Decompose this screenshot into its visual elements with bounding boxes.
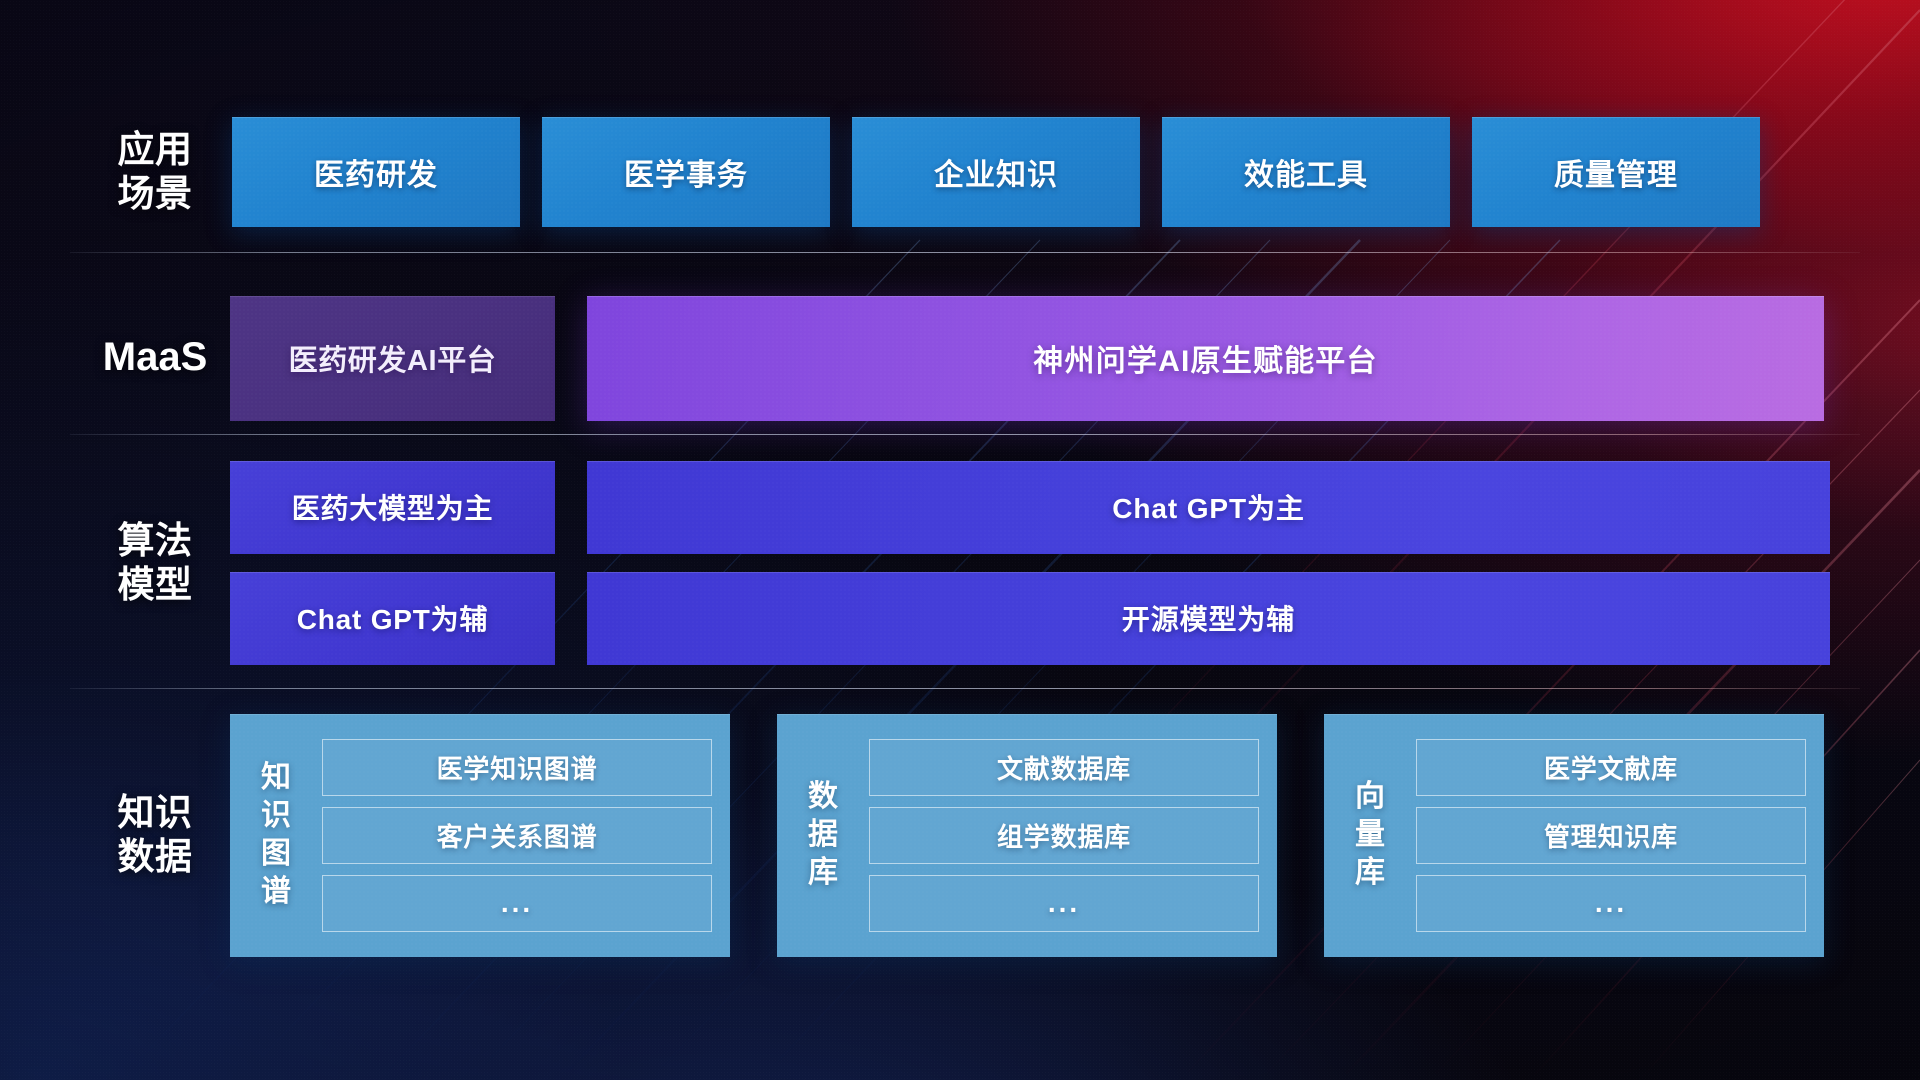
knowledge-panel-vector-store: 向 量 库 医学文献库 管理知识库 ... <box>1324 714 1824 957</box>
app-card-drug-rd[interactable]: 医药研发 <box>232 117 520 227</box>
knowledge-panel-title-char: 数 <box>808 778 838 816</box>
layer-label-line2: 数据 <box>80 835 230 879</box>
app-card-label: 医药研发 <box>314 150 438 194</box>
algo-card-chatgpt-primary[interactable]: Chat GPT为主 <box>587 461 1830 554</box>
divider-1 <box>70 252 1860 253</box>
knowledge-item-more[interactable]: ... <box>322 875 712 932</box>
app-card-quality-management[interactable]: 质量管理 <box>1472 117 1760 227</box>
knowledge-panel-knowledge-graph: 知 识 图 谱 医学知识图谱 客户关系图谱 ... <box>230 714 730 957</box>
maas-card-shenzhou-wenxue-platform[interactable]: 神州问学AI原生赋能平台 <box>587 296 1824 421</box>
layer-algorithm-models: 算法 模型 医药大模型为主 Chat GPT为主 Chat GPT为辅 <box>0 460 1920 665</box>
app-card-label: 医学事务 <box>624 150 748 194</box>
layer-label-knowledge: 知识 数据 <box>80 791 230 878</box>
knowledge-panel-title: 知 识 图 谱 <box>244 728 308 943</box>
knowledge-item[interactable]: 管理知识库 <box>1416 807 1806 864</box>
maas-card-drug-ai-platform[interactable]: 医药研发AI平台 <box>230 296 555 421</box>
knowledge-item[interactable]: 客户关系图谱 <box>322 807 712 864</box>
layer-maas: MaaS 医药研发AI平台 神州问学AI原生赋能平台 <box>0 293 1920 423</box>
algo-card-label: 医药大模型为主 <box>292 487 494 527</box>
knowledge-panel-title-char: 知 <box>261 759 291 797</box>
layer-knowledge-data: 知识 数据 知 识 图 谱 医学知识图谱 客户关系图谱 ... 数 <box>0 710 1920 960</box>
maas-body: 医药研发AI平台 神州问学AI原生赋能平台 <box>230 296 1920 421</box>
algo-card-chatgpt-secondary[interactable]: Chat GPT为辅 <box>230 572 555 665</box>
maas-card-label: 医药研发AI平台 <box>289 337 497 379</box>
app-card-efficiency-tools[interactable]: 效能工具 <box>1162 117 1450 227</box>
applications-body: 医药研发 医学事务 企业知识 效能工具 质量管理 <box>230 117 1920 227</box>
knowledge-item-list: 医学文献库 管理知识库 ... <box>1416 728 1806 943</box>
knowledge-item-more[interactable]: ... <box>869 875 1259 932</box>
knowledge-panel-title-char: 库 <box>1355 854 1385 892</box>
app-card-enterprise-knowledge[interactable]: 企业知识 <box>852 117 1140 227</box>
algo-card-label: 开源模型为辅 <box>1122 598 1295 638</box>
knowledge-panel-title-char: 量 <box>1355 816 1385 854</box>
knowledge-panel-database: 数 据 库 文献数据库 组学数据库 ... <box>777 714 1277 957</box>
knowledge-item-more[interactable]: ... <box>1416 875 1806 932</box>
app-card-medical-affairs[interactable]: 医学事务 <box>542 117 830 227</box>
maas-card-label: 神州问学AI原生赋能平台 <box>1033 336 1377 380</box>
knowledge-item[interactable]: 医学文献库 <box>1416 739 1806 796</box>
algorithm-body: 医药大模型为主 Chat GPT为主 Chat GPT为辅 开源模型为辅 <box>230 461 1920 665</box>
knowledge-item-list: 文献数据库 组学数据库 ... <box>869 728 1259 943</box>
layer-label-line1: 应用 <box>80 128 230 172</box>
application-card-grid: 医药研发 医学事务 企业知识 效能工具 质量管理 <box>232 117 1760 227</box>
layer-label-line2: 场景 <box>80 172 230 216</box>
knowledge-item-list: 医学知识图谱 客户关系图谱 ... <box>322 728 712 943</box>
divider-3 <box>70 688 1860 689</box>
algo-card-label: Chat GPT为辅 <box>297 598 489 638</box>
knowledge-panel-title-char: 识 <box>261 797 291 835</box>
knowledge-panel-title-char: 向 <box>1355 778 1385 816</box>
app-card-label: 质量管理 <box>1554 150 1678 194</box>
knowledge-panel-title-char: 谱 <box>261 873 291 911</box>
algo-card-opensource-secondary[interactable]: 开源模型为辅 <box>587 572 1830 665</box>
algorithm-row-primary: 医药大模型为主 Chat GPT为主 <box>230 461 1830 554</box>
algorithm-card-stack: 医药大模型为主 Chat GPT为主 Chat GPT为辅 开源模型为辅 <box>230 461 1830 665</box>
algo-card-medical-llm-primary[interactable]: 医药大模型为主 <box>230 461 555 554</box>
knowledge-panel-title-char: 库 <box>808 854 838 892</box>
app-card-label: 效能工具 <box>1244 150 1368 194</box>
app-card-label: 企业知识 <box>934 150 1058 194</box>
layer-label-line1: 算法 <box>80 519 230 563</box>
layer-label-algorithm: 算法 模型 <box>80 519 230 606</box>
knowledge-panel-title: 数 据 库 <box>791 728 855 943</box>
algorithm-row-secondary: Chat GPT为辅 开源模型为辅 <box>230 572 1830 665</box>
layer-label-line2: 模型 <box>80 563 230 607</box>
knowledge-item[interactable]: 组学数据库 <box>869 807 1259 864</box>
layer-applications: 应用 场景 医药研发 医学事务 企业知识 效能工具 质量管理 <box>0 112 1920 232</box>
layer-label-applications: 应用 场景 <box>80 128 230 215</box>
knowledge-body: 知 识 图 谱 医学知识图谱 客户关系图谱 ... 数 据 库 <box>230 714 1920 957</box>
knowledge-panel-title-char: 据 <box>808 816 838 854</box>
knowledge-panel-title-char: 图 <box>261 835 291 873</box>
divider-2 <box>70 434 1860 435</box>
layer-label-maas: MaaS <box>80 334 230 381</box>
architecture-diagram: 应用 场景 医药研发 医学事务 企业知识 效能工具 质量管理 <box>0 0 1920 1080</box>
algo-card-label: Chat GPT为主 <box>1112 487 1305 527</box>
knowledge-item[interactable]: 医学知识图谱 <box>322 739 712 796</box>
layer-label-line1: 知识 <box>80 791 230 835</box>
knowledge-item[interactable]: 文献数据库 <box>869 739 1259 796</box>
knowledge-panel-title: 向 量 库 <box>1338 728 1402 943</box>
